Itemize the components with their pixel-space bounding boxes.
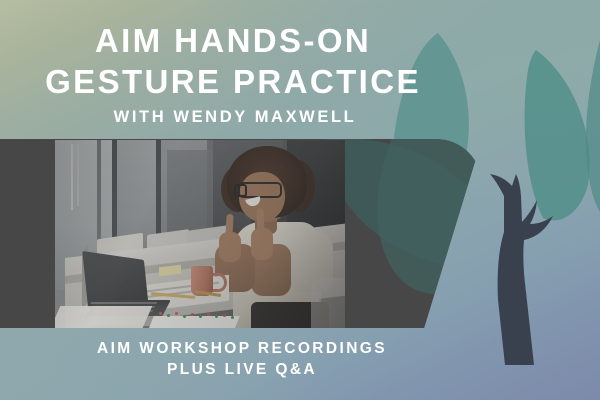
workshop-photo [55, 140, 345, 328]
footer-text: AIM WORKSHOP RECORDINGS PLUS LIVE Q&A [0, 338, 484, 380]
leaf-right-icon [525, 50, 590, 220]
title-line-1: AIM HANDS-ON [0, 20, 466, 61]
title-line-2: GESTURE PRACTICE [0, 61, 466, 102]
presenter-subtitle: WITH WENDY MAXWELL [0, 108, 470, 127]
page-title: AIM HANDS-ON GESTURE PRACTICE [0, 20, 466, 102]
leaf-far-right-icon [586, 40, 600, 212]
photo-shadow-layer [55, 140, 345, 328]
poster-canvas: AIM HANDS-ON GESTURE PRACTICE WITH WENDY… [0, 0, 600, 400]
footer-line-1: AIM WORKSHOP RECORDINGS [0, 338, 484, 359]
footer-line-2: PLUS LIVE Q&A [0, 359, 484, 380]
